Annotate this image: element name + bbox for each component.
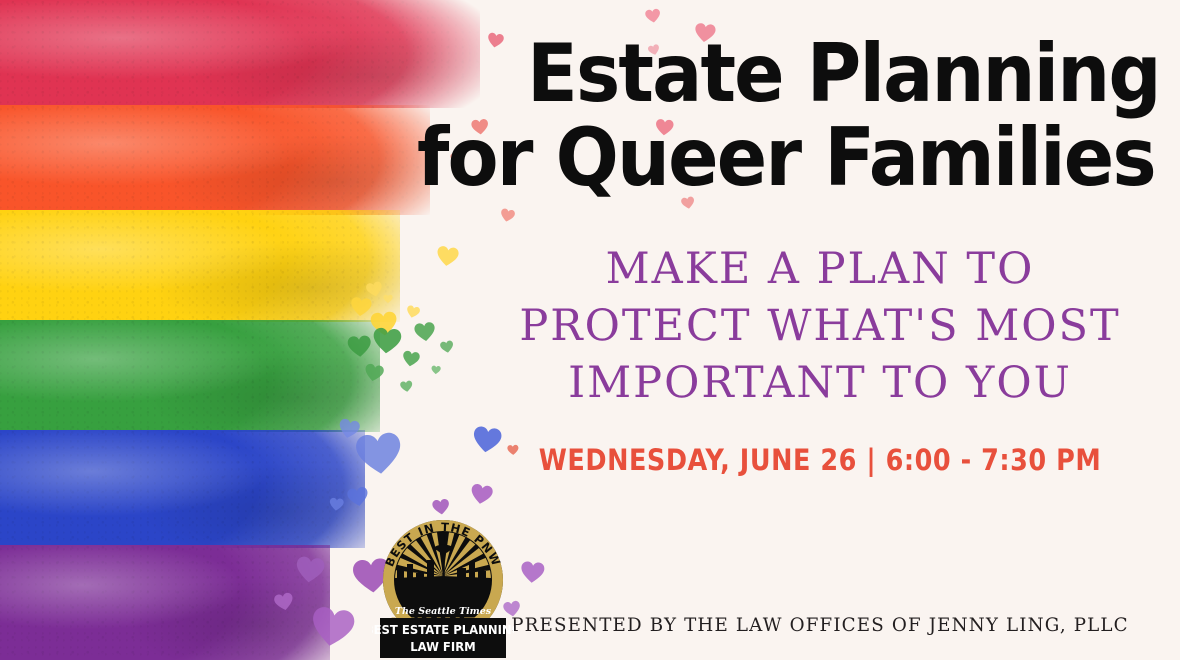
headline-line-2: for Queer Families — [417, 120, 1155, 197]
rainbow-stripe-orange — [0, 105, 430, 215]
heart-icon — [336, 416, 362, 442]
rainbow-stripe-red — [0, 0, 480, 108]
event-flyer: Estate Planning for Queer Families MAKE … — [0, 0, 1180, 660]
award-badge: BEST IN THE PNW The Seattle Times WINNER… — [372, 518, 514, 660]
rainbow-stripe-green — [0, 320, 380, 432]
heart-icon — [401, 349, 422, 370]
subheading-line-1: MAKE A PLAN TO — [470, 241, 1170, 298]
badge-label-line-1: BEST ESTATE PLANNING — [372, 623, 514, 637]
heart-icon — [431, 365, 442, 376]
heart-icon — [431, 497, 451, 517]
heart-icon — [383, 294, 393, 304]
heart-icon — [470, 423, 504, 457]
event-datetime: WEDNESDAY, JUNE 26 | 6:00 - 7:30 PM — [512, 443, 1128, 477]
heart-icon — [371, 325, 404, 358]
heart-icon — [439, 339, 455, 355]
heart-icon — [468, 481, 495, 508]
subheading: MAKE A PLAN TO PROTECT WHAT'S MOST IMPOR… — [470, 241, 1170, 413]
heart-icon — [293, 553, 326, 586]
subheading-line-3: IMPORTANT TO YOU — [470, 355, 1170, 412]
heart-icon — [519, 559, 546, 586]
rainbow-stripe-yellow — [0, 210, 400, 322]
presenter-credit: PRESENTED BY THE LAW OFFICES OF JENNY LI… — [484, 614, 1156, 636]
heart-icon — [328, 496, 344, 512]
heart-icon — [486, 31, 506, 51]
heart-icon — [435, 244, 461, 270]
rainbow-stripe-blue — [0, 430, 365, 548]
heart-icon — [345, 484, 370, 509]
heart-icon — [272, 590, 295, 613]
heart-icon — [399, 379, 414, 394]
heart-icon — [353, 428, 406, 481]
subheading-line-2: PROTECT WHAT'S MOST — [470, 298, 1170, 355]
badge-label-line-2: LAW FIRM — [410, 640, 476, 654]
heart-icon — [362, 361, 385, 384]
heart-icon — [644, 7, 662, 25]
heart-icon — [413, 320, 438, 345]
heart-icon — [499, 207, 517, 225]
heart-icon — [346, 333, 373, 360]
heart-icon — [307, 602, 358, 653]
headline-line-1: Estate Planning — [527, 36, 1160, 113]
